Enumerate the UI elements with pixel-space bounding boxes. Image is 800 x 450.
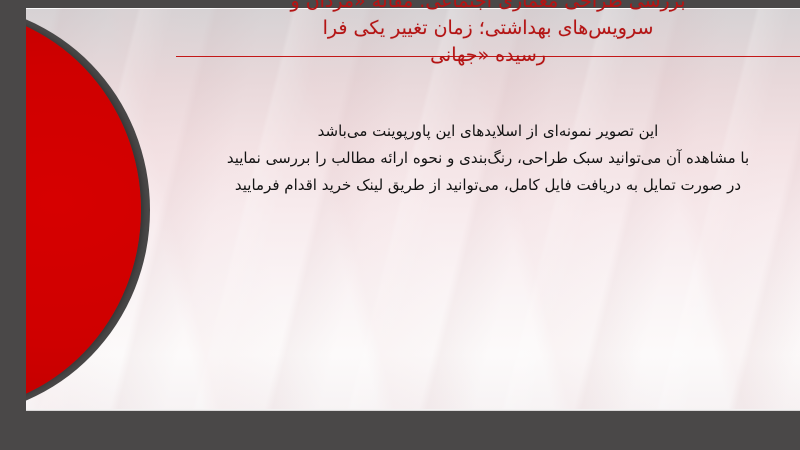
body-line-3: در صورت تمایل به دریافت فایل کامل، می‌تو… <box>176 172 800 199</box>
slide-title: بررسی طراحی معماری اجتماعی؛ مقاله «مردان… <box>176 0 800 69</box>
frame-bottom-band <box>0 411 800 450</box>
title-line-3-text: رسیده «جهانی <box>430 44 546 66</box>
title-line-3: رسیده «جهانی <box>176 42 800 69</box>
title-line-2: سرویس‌های بهداشتی؛ زمان تغییر یکی فرا <box>176 15 800 42</box>
slide-body-text: این تصویر نمونه‌ای از اسلایدهای این پاور… <box>176 118 800 199</box>
slide-content: بررسی طراحی معماری اجتماعی؛ مقاله «مردان… <box>26 0 800 411</box>
title-line-1: بررسی طراحی معماری اجتماعی؛ مقاله «مردان… <box>176 0 800 15</box>
body-line-1: این تصویر نمونه‌ای از اسلایدهای این پاور… <box>176 118 800 145</box>
frame-left-band <box>0 0 26 450</box>
presentation-slide: بررسی طراحی معماری اجتماعی؛ مقاله «مردان… <box>0 0 800 450</box>
body-line-2: با مشاهده آن می‌توانید سبک طراحی، رنگ‌بن… <box>176 145 800 172</box>
